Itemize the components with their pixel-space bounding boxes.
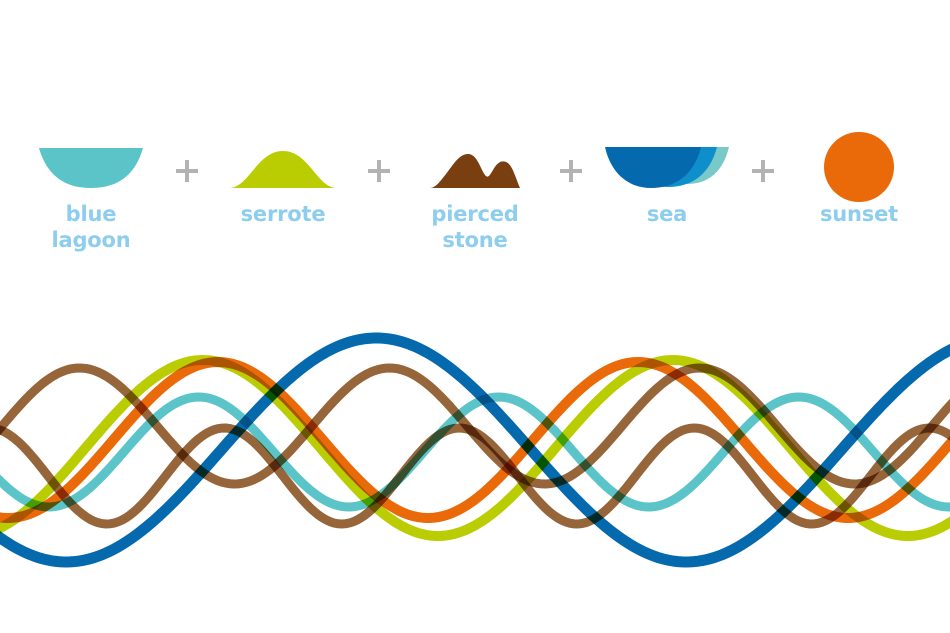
plus-icon <box>742 136 784 206</box>
plus-icon <box>166 136 208 206</box>
ingredient-serrote[interactable]: serrote <box>208 118 358 228</box>
ingredient-label: blue lagoon <box>51 202 130 253</box>
ingredient-label: sunset <box>820 202 898 228</box>
lagoon-basin-icon <box>21 118 161 188</box>
ingredient-sunset[interactable]: sunset <box>784 118 934 228</box>
ingredient-label: sea <box>647 202 687 228</box>
plus-icon <box>550 136 592 206</box>
ingredient-label: pierced stone <box>431 202 518 253</box>
twin-rock-icon <box>405 118 545 188</box>
ingredient-pierced-stone[interactable]: pierced stone <box>400 118 550 253</box>
ingredient-label: serrote <box>241 202 326 228</box>
sea-waves-icon <box>597 118 737 188</box>
wave-svg <box>0 300 950 633</box>
ingredient-blue-lagoon[interactable]: blue lagoon <box>16 118 166 253</box>
wave-composition <box>0 300 950 633</box>
poster-canvas: blue lagoon serrote <box>0 0 950 633</box>
plus-icon <box>358 136 400 206</box>
ingredient-sea[interactable]: sea <box>592 118 742 228</box>
ingredient-formula-row: blue lagoon serrote <box>0 118 950 288</box>
hill-mound-icon <box>213 118 353 188</box>
sun-circle-icon <box>789 118 929 188</box>
